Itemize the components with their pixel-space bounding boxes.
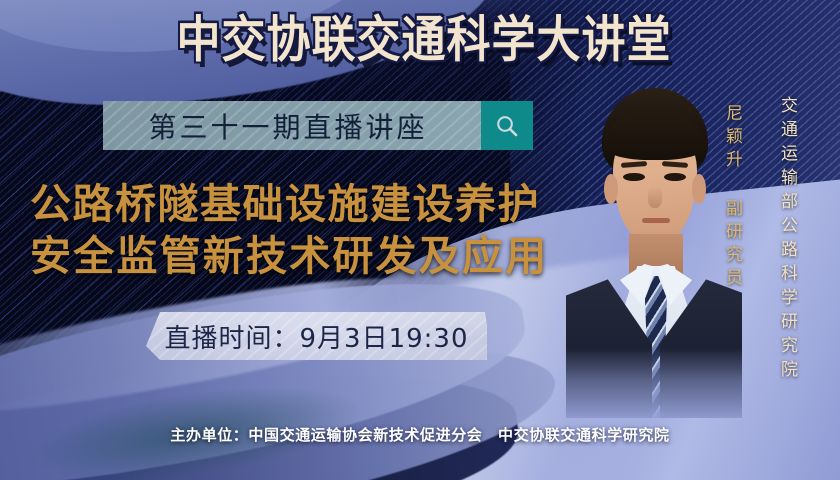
speaker-portrait: [566, 88, 742, 418]
portrait-nose: [648, 186, 662, 208]
portrait-bottom-fade: [566, 348, 742, 418]
headline-line-1: 公路桥隧基础设施建设养护: [30, 178, 548, 230]
broadcast-time-badge: 直播时间：9月3日19:30: [146, 312, 487, 360]
portrait-ear-left: [604, 174, 618, 204]
portrait-eye-right: [664, 173, 686, 181]
live-stream-poster: 中交协联交通科学大讲堂 第三十一期直播讲座 公路桥隧基础设施建设养护 安全监管新…: [0, 0, 840, 480]
portrait-mouth: [642, 218, 670, 223]
speaker-organization: 交通运输部公路科学研究院: [775, 96, 800, 384]
organizer-footer: 主办单位：中国交通运输协会新技术促进分会 中交协联交通科学研究院: [0, 424, 840, 445]
main-title: 中交协联交通科学大讲堂: [0, 16, 840, 65]
broadcast-time-text: 直播时间：9月3日19:30: [164, 318, 468, 355]
poster-content: 中交协联交通科学大讲堂 第三十一期直播讲座 公路桥隧基础设施建设养护 安全监管新…: [0, 0, 840, 480]
portrait-eye-left: [623, 173, 645, 181]
speaker-name: 尼颖升 副研究员: [720, 104, 745, 291]
subtitle-bar: 第三十一期直播讲座: [103, 101, 533, 150]
headline-line-2: 安全监管新技术研发及应用: [30, 230, 548, 282]
headline: 公路桥隧基础设施建设养护 安全监管新技术研发及应用: [30, 178, 548, 283]
subtitle-text: 第三十一期直播讲座: [103, 101, 481, 150]
search-icon: [494, 113, 520, 139]
portrait-ear-right: [692, 174, 706, 204]
search-button[interactable]: [481, 101, 533, 150]
